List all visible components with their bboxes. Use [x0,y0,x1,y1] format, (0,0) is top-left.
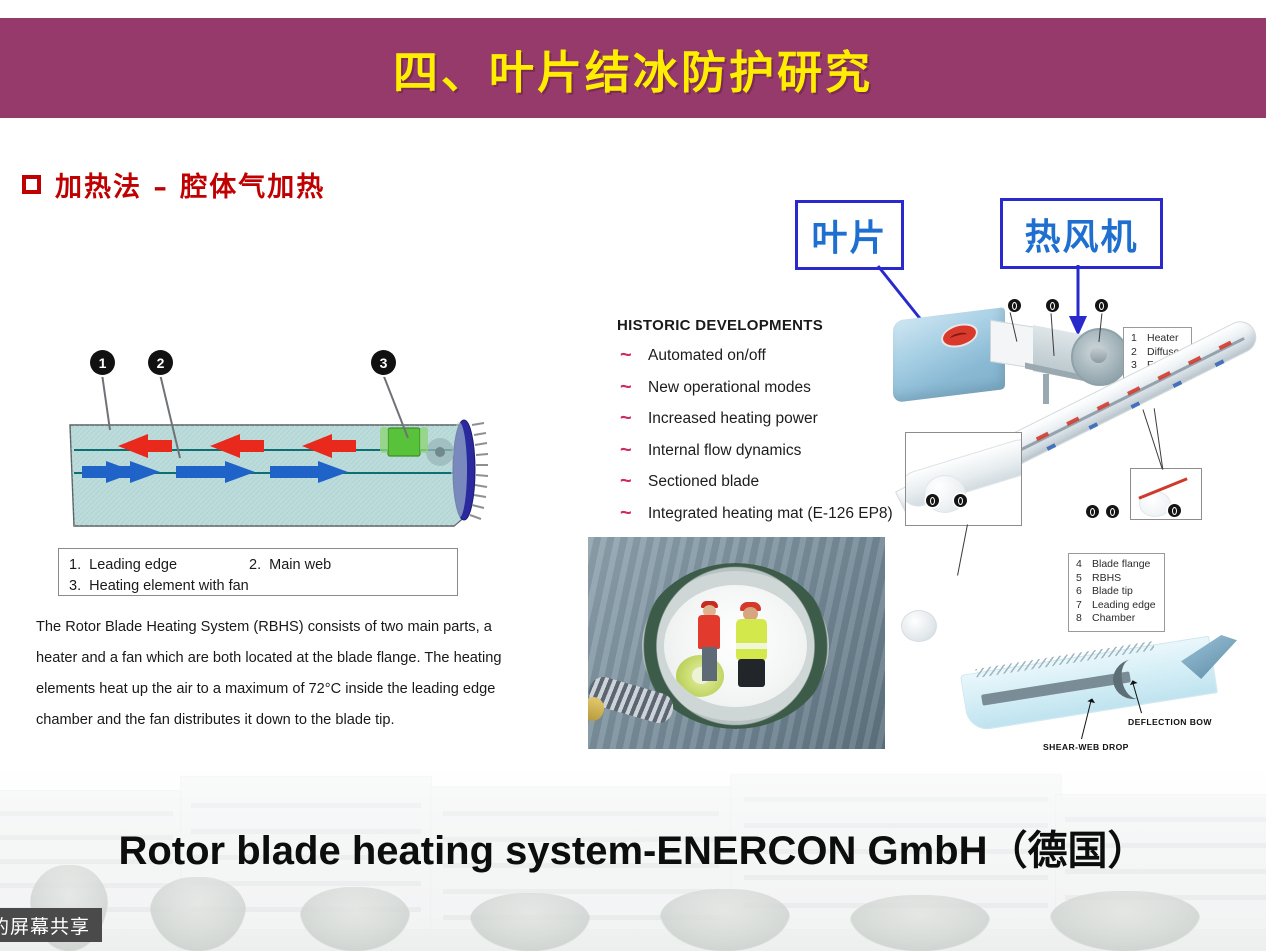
deflection-bow-diagram: DEFLECTION BOW SHEAR-WEB DROP [963,637,1243,757]
list-item: ~ Internal flow dynamics [620,440,950,472]
caption-num-2: 2. [249,557,261,573]
worker-legs [702,647,717,681]
historic-developments-title: HISTORIC DEVELOPMENTS [617,317,823,334]
caption-num-1: 1. [69,557,81,573]
legend-row: 6 Blade tip [1076,585,1156,599]
fan-hub [1090,346,1107,363]
callout-box-fan-label: 热风机 [1024,208,1138,260]
caption-label-3: Heating element with fan [89,578,249,594]
caption-num-3: 3. [69,578,81,594]
callout-marker-2: 2 [148,350,173,375]
slide-header-banner: 四、叶片结冰防护研究 [0,18,1266,118]
blade-detail-inset-root [905,432,1022,526]
tilde-bullet-icon: ~ [620,377,634,397]
vest-stripe [736,643,767,649]
blade-root-heater-render [893,300,1113,405]
worker-jacket [698,615,720,649]
slide-canvas: 四、叶片结冰防护研究 加热法 – 腔体气加热 [0,0,1266,951]
render-marker-7 [1106,505,1119,518]
shear-web-drop-label: SHEAR-WEB DROP [1043,742,1129,752]
callout-box-blade-label: 叶片 [811,209,887,261]
tilde-bullet-icon: ~ [620,503,634,523]
caption-label-1: Leading edge [89,557,177,573]
callout-marker-1: 1 [90,350,115,375]
legend-row: 5 RBHS [1076,572,1156,586]
render-marker-4 [926,494,939,507]
render-marker-8 [954,494,967,507]
section-heading-label: 加热法 – 腔体气加热 [55,165,325,204]
screen-share-label: 电的屏幕共享 [0,912,90,939]
square-bullet-icon [22,175,41,194]
tilde-bullet-icon: ~ [620,440,634,460]
blade-detail-inset-tip [1130,468,1202,520]
deflection-bow-label: DEFLECTION BOW [1128,717,1212,727]
legend-row: 8 Chamber [1076,612,1156,626]
render-marker-1 [1008,299,1021,312]
render-marker-3 [1095,299,1108,312]
list-item: ~ Integrated heating mat (E-126 EP8) [620,503,950,535]
callout-box-hot-air-fan: 热风机 [1000,198,1163,269]
blade-root-body [893,307,1005,403]
callout-box-blade: 叶片 [795,200,904,270]
caption-row: 1. Leading edge 2. Main web [69,555,447,576]
blade-cross-section-diagram: 1 2 3 [40,330,540,560]
bottom-caption-title: Rotor blade heating system-ENERCON GmbH（… [0,818,1266,876]
callout-marker-3: 3 [371,350,396,375]
blade-root-ball [901,610,937,642]
caption-row: 3. Heating element with fan [69,576,447,597]
legend-row: 7 Leading edge [1076,599,1156,613]
legend-blade-parts: 4 Blade flange 5 RBHS 6 Blade tip 7 Lead… [1068,553,1165,632]
hatch-opening [664,585,807,707]
section-heading: 加热法 – 腔体气加热 [22,165,325,204]
tilde-bullet-icon: ~ [620,471,634,491]
caption-label-2: Main web [269,557,331,573]
blade-root-workers-photo [588,537,885,749]
diagram-caption-box: 1. Leading edge 2. Main web 3. Heating e… [58,548,458,596]
render-marker-6 [1086,505,1099,518]
worker-legs [738,659,765,687]
tilde-bullet-icon: ~ [620,408,634,428]
legend-row: 4 Blade flange [1076,558,1156,572]
render-marker-2 [1046,299,1059,312]
legend-row: 1 Heater [1131,332,1183,346]
page-title: 四、叶片结冰防护研究 [393,36,873,101]
list-item: ~ Increased heating power [620,408,950,440]
screen-share-indicator[interactable]: 电的屏幕共享 [0,908,102,942]
worker-vest [736,619,767,661]
render-marker-5 [1168,504,1181,517]
tilde-bullet-icon: ~ [620,345,634,365]
rbhs-description-paragraph: The Rotor Blade Heating System (RBHS) co… [36,612,536,736]
